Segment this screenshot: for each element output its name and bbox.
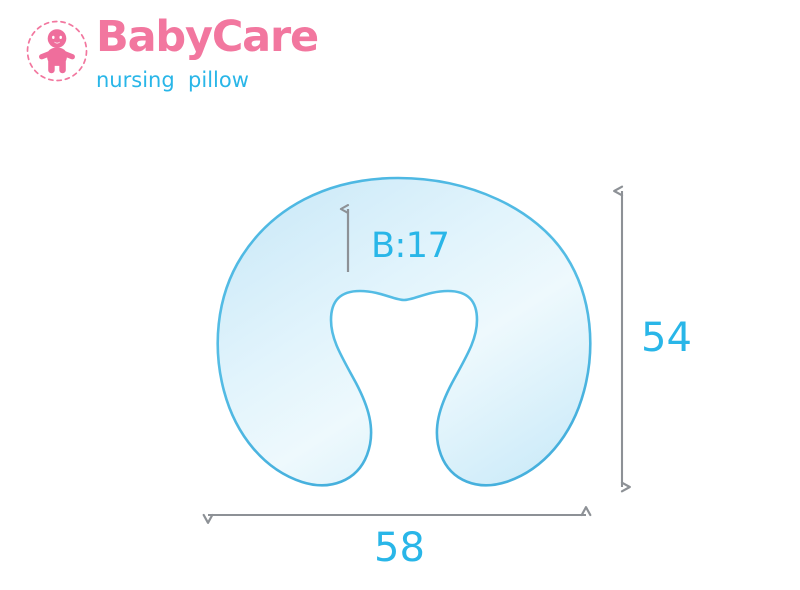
baby-figure-icon [39, 29, 75, 73]
thickness-dimension-label: B:17 [371, 229, 449, 264]
brand-logo: BabyCare nursing pillow [24, 16, 324, 108]
brand-wordmark: BabyCare [96, 16, 326, 72]
pillow-illustration [218, 178, 591, 485]
width-dimension-label: 58 [374, 528, 425, 568]
pillow-outline-path [218, 178, 591, 485]
wordmark-care: Care [212, 12, 318, 62]
tagline-pillow: pillow [188, 68, 249, 92]
baby-in-dashed-circle-icon [24, 18, 90, 84]
height-dimension-label: 54 [641, 318, 692, 358]
wordmark-baby: Baby [96, 12, 212, 62]
brand-tagline: nursing pillow [96, 70, 326, 100]
tagline-nursing: nursing [96, 68, 175, 92]
